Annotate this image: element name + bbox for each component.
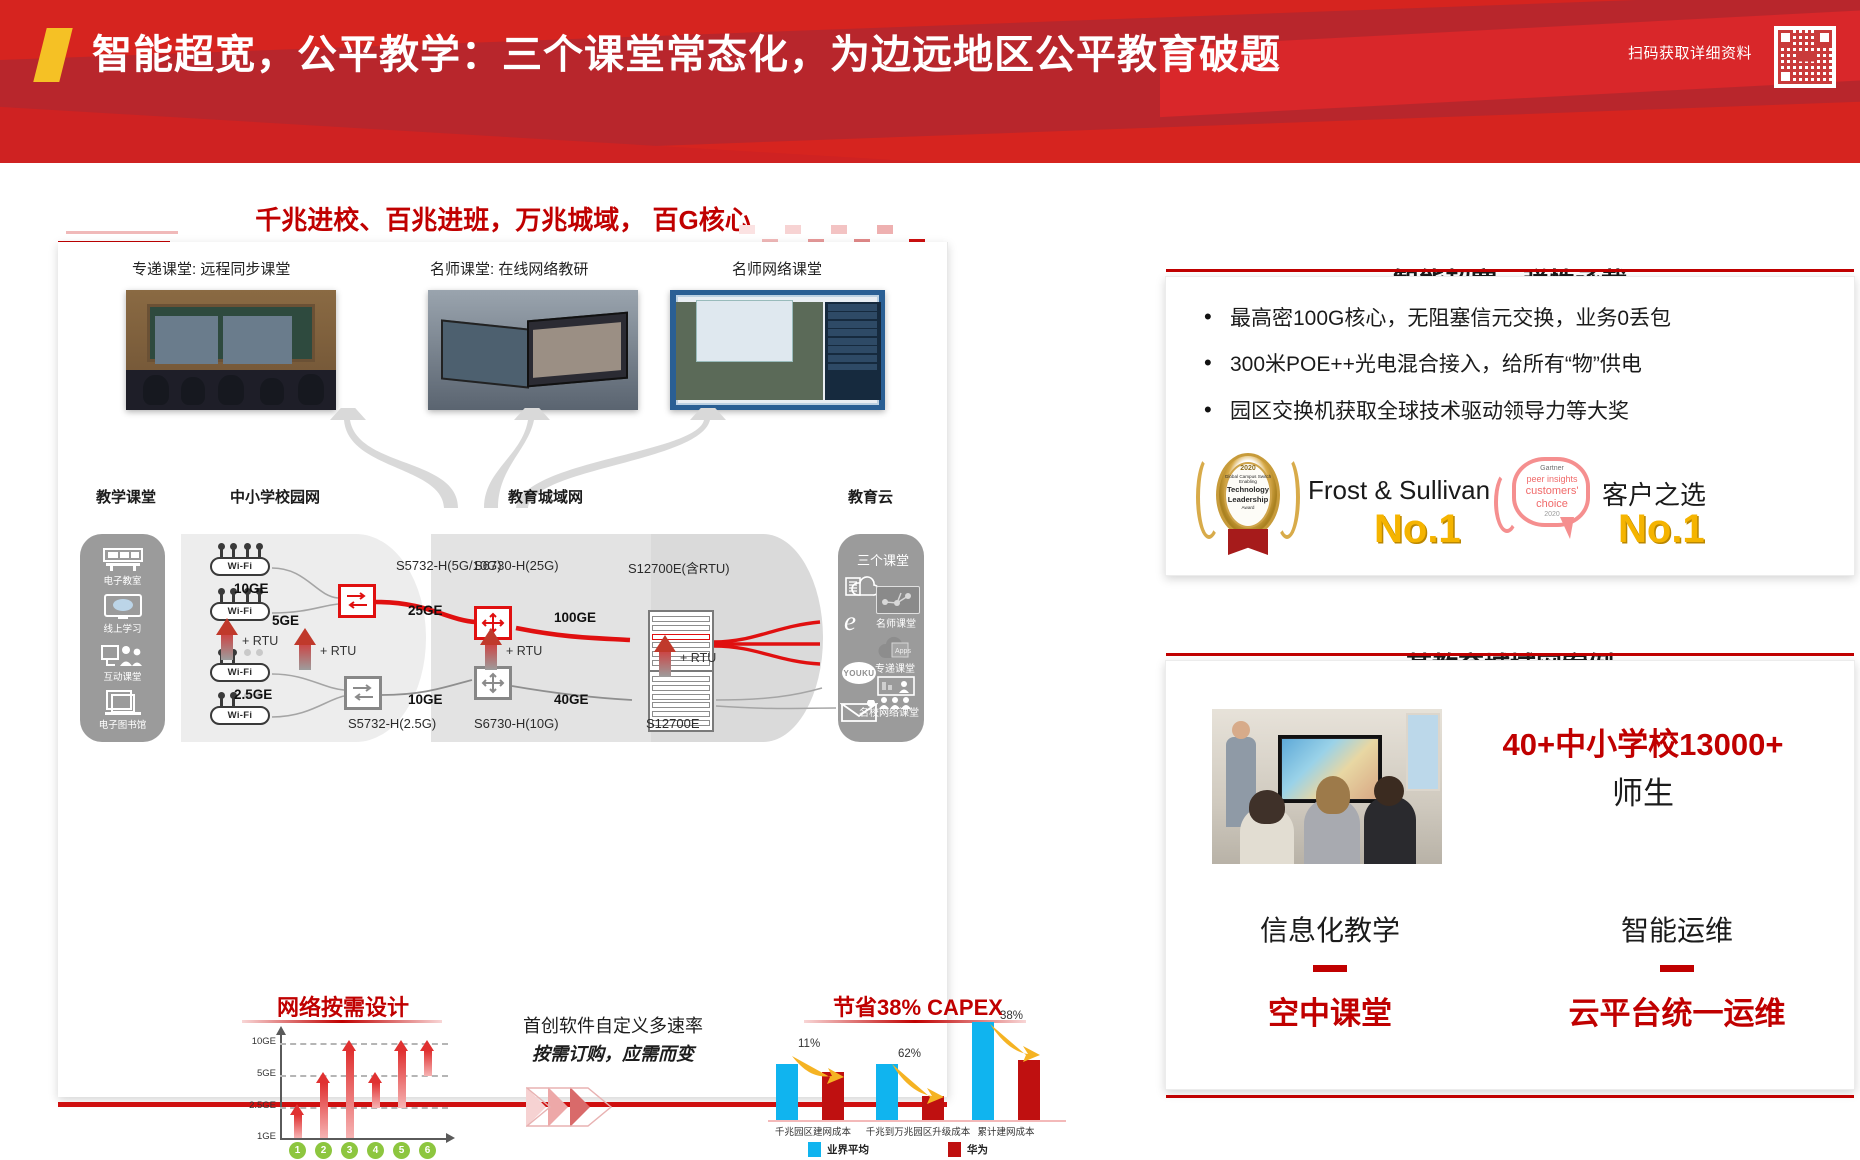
chart-b-title: 节省38% CAPEX [758, 990, 1078, 1022]
chart-a-yaxis [280, 1034, 282, 1140]
model-s12700e-rtu: S12700E(含RTU) [628, 558, 730, 577]
chart-b-annotation-2: 62% [898, 1048, 921, 1060]
case-column-teaching: 信息化教学 空中课堂 [1190, 909, 1470, 1033]
link-speed-40ge: 40GE [554, 692, 589, 707]
gold-medal-icon: 2020 Global Campus Switch Enabling Techn… [1196, 449, 1300, 553]
page-header: 智能超宽，公平教学：三个课堂常态化，为边远地区公平教育破题 扫码获取详细资料 [0, 0, 1860, 163]
chart-b-legend-industry: 业界平均 [808, 1142, 869, 1157]
chart-a-xlabel-3: 3 [341, 1142, 358, 1159]
left-section-header: 千兆进校、百兆进班，万兆城域， 百G核心 [58, 200, 948, 246]
rtu-label-1: + RTU [242, 634, 278, 648]
classroom-photo-1 [126, 290, 336, 410]
zone-label-metro: 教育城域网 [508, 486, 583, 507]
model-s6730h-25g: S6730-H(25G) [474, 558, 559, 573]
youku-icon: YOUKU [842, 662, 876, 684]
link-speed-100ge: 100GE [554, 610, 596, 625]
chart-a-xlabel-2: 2 [315, 1142, 332, 1159]
right-top-panel: 最高密100G核心，无阻塞信元交换，业务0丢包 300米POE++光电混合接入，… [1165, 276, 1855, 576]
feature-bullet-1: 最高密100G核心，无阻塞信元交换，业务0丢包 [1200, 305, 1840, 332]
feature-bullet-list: 最高密100G核心，无阻塞信元交换，业务0丢包 300米POE++光电混合接入，… [1200, 305, 1840, 444]
case-column-1-divider [1313, 965, 1347, 972]
chart-b-annotation-3: 38% [1000, 1010, 1023, 1022]
legend-label-industry: 业界平均 [827, 1142, 869, 1157]
model-s6730h-10g: S6730-H(10G) [474, 716, 559, 731]
case-statistic: 40+中小学校13000+ 师生 [1458, 719, 1828, 813]
rtu-arrow-2 [294, 628, 316, 670]
zone-label-cloud: 教育云 [848, 486, 893, 507]
chart-b-legend-huawei: 华为 [948, 1142, 988, 1157]
rt-panel-topline [1166, 269, 1854, 272]
chart-a-grid-2p5ge [280, 1107, 448, 1109]
case-classroom-photo [1212, 709, 1442, 864]
photo-caption-3: 名师网络课堂 [732, 258, 822, 279]
qr-code-icon[interactable] [1774, 26, 1836, 88]
chart-a-xlabel-4: 4 [367, 1142, 384, 1159]
photo-caption-2: 名师课堂: 在线网络教研 [430, 258, 588, 279]
chart-a-xlabel-5: 5 [393, 1142, 410, 1159]
chart-network-on-demand: 网络按需设计 10GE 5GE 2.5GE 1GE 1 2 3 4 5 6 [228, 990, 458, 1150]
chart-a-yaxis-arrow [276, 1026, 286, 1035]
mail-icon [840, 700, 878, 729]
rb-panel-botline [1166, 1095, 1854, 1098]
case-column-2-value: 云平台统一运维 [1512, 988, 1842, 1033]
case-column-2-title: 智能运维 [1512, 909, 1842, 949]
chart-a-ytick-1: 5GE [228, 1068, 276, 1079]
photo-caption-1: 专递课堂: 远程同步课堂 [132, 258, 290, 279]
rb-panel-topline [1166, 653, 1854, 656]
award-rank-frost: No.1 [1374, 507, 1461, 552]
chart-a-xaxis-arrow [446, 1133, 455, 1143]
gartner-line-5: 2020 [1520, 511, 1584, 520]
award-rank-customers-choice: No.1 [1618, 507, 1705, 552]
gartner-line-2: peer insights [1520, 474, 1584, 485]
cloud-title: 三个课堂 [844, 550, 922, 569]
case-column-1-title: 信息化教学 [1190, 909, 1470, 949]
rtu-label-3: + RTU [506, 644, 542, 658]
chart-a-ytick-2: 2.5GE [228, 1100, 276, 1111]
legend-swatch-industry [808, 1142, 821, 1157]
model-s12700e: S12700E [646, 716, 700, 731]
rtu-arrow-1 [216, 618, 238, 660]
chart-b-category-1: 千兆园区建网成本 [758, 1124, 868, 1138]
medal-year: 2020 [1222, 465, 1274, 474]
switch-s5732h-5g10g [338, 584, 376, 618]
zone-label-campus: 中小学校园网 [230, 486, 320, 507]
zone-label-classroom: 教学课堂 [96, 486, 156, 507]
gartner-line-4: choice [1520, 498, 1584, 511]
chart-a-ytick-0: 10GE [228, 1036, 276, 1047]
medal-footer: Award [1222, 505, 1274, 511]
chart-a-underline [242, 1020, 442, 1023]
chart-b-bar-huawei-3 [1018, 1060, 1040, 1120]
model-s5732h-25g: S5732-H(2.5G) [348, 716, 436, 731]
chart-a-xlabel-1: 1 [289, 1142, 306, 1159]
svg-text:Apps: Apps [895, 648, 911, 655]
photo-captions: 专递课堂: 远程同步课堂 名师课堂: 在线网络教研 名师网络课堂 [58, 258, 947, 286]
link-speed-10ge: 10GE [234, 581, 269, 596]
case-stat-line2: 师生 [1458, 768, 1828, 813]
case-stat-line1: 40+中小学校13000+ [1458, 719, 1828, 764]
link-speed-10ge-b: 10GE [408, 692, 443, 707]
case-column-ops: 智能运维 云平台统一运维 [1512, 909, 1842, 1033]
gartner-line-3: customers' [1520, 485, 1584, 498]
chart-b-annotation-1: 11% [798, 1038, 820, 1050]
switch-s6730h-10g [474, 666, 512, 700]
mid-tagline: 首创软件自定义多速率 按需订购，应需而变 [478, 1012, 748, 1066]
switch-s5732h-25g [344, 676, 382, 710]
mid-tagline-line1: 首创软件自定义多速率 [478, 1012, 748, 1038]
network-diagram: 电子教室 线上学习 互动课堂 电子图书馆 Wi-Fi [76, 510, 931, 745]
heading-rule-light [66, 231, 178, 234]
network-topology-icon [876, 586, 920, 614]
mid-tagline-line2: 按需订购，应需而变 [478, 1040, 748, 1066]
chart-a-title: 网络按需设计 [228, 990, 458, 1022]
page-title: 智能超宽，公平教学：三个课堂常态化，为边远地区公平教育破题 [92, 26, 1281, 84]
chart-b-category-3: 累计建网成本 [954, 1124, 1058, 1138]
chart-capex-saving: 节省38% CAPEX 11% 千兆园区建网成本 62% 千兆到万兆园区升级成本… [758, 990, 1078, 1160]
chart-a-xlabel-6: 6 [419, 1142, 436, 1159]
chart-b-arrow-2 [890, 1062, 946, 1104]
medal-title-1: Technology [1222, 485, 1274, 494]
feature-bullet-2: 300米POE++光电混合接入，给所有“物”供电 [1200, 351, 1840, 378]
link-speed-5ge: 5GE [272, 613, 299, 628]
chart-b-baseline [768, 1120, 1066, 1122]
award-name-frost: Frost & Sullivan [1308, 475, 1490, 506]
right-bottom-panel: 40+中小学校13000+ 师生 信息化教学 空中课堂 智能运维 云平台统一运维 [1165, 660, 1855, 1090]
link-speed-25ge: 25GE [408, 603, 443, 618]
gartner-peer-insights-icon: Gartner peer insights customers' choice … [1490, 455, 1594, 551]
classroom-photo-3 [670, 290, 885, 410]
rtu-arrow-4 [654, 635, 676, 677]
chart-a-xaxis [280, 1138, 448, 1140]
case-column-1-value: 空中课堂 [1190, 988, 1470, 1033]
legend-swatch-huawei [948, 1142, 961, 1157]
rtu-arrow-3 [480, 628, 502, 670]
chart-b-arrow-1 [790, 1052, 846, 1086]
classroom-photo-2 [428, 290, 638, 410]
chart-b-arrow-3 [988, 1022, 1042, 1062]
qr-label: 扫码获取详细资料 [1628, 42, 1752, 63]
feature-bullet-3: 园区交换机获取全球技术驱动领导力等大奖 [1200, 398, 1840, 425]
cloud-item-1-label: 名师课堂 [866, 615, 926, 630]
chevron-right-icon [526, 1087, 612, 1127]
chart-a-ytick-3: 1GE [228, 1131, 276, 1142]
link-speed-25ge-ap: 2.5GE [234, 687, 272, 702]
left-content-panel: 专递课堂: 远程同步课堂 名师课堂: 在线网络教研 名师网络课堂 教学课堂 中小… [58, 242, 948, 1097]
gartner-line-1: Gartner [1520, 465, 1584, 474]
rtu-label-2: + RTU [320, 644, 356, 658]
medal-title-2: Leadership [1222, 495, 1274, 504]
case-column-2-divider [1660, 965, 1694, 972]
ie-icon: e [844, 608, 856, 635]
rtu-label-4: + RTU [680, 651, 716, 665]
legend-label-huawei: 华为 [967, 1142, 988, 1157]
awards-row: 2020 Global Campus Switch Enabling Techn… [1190, 445, 1840, 555]
